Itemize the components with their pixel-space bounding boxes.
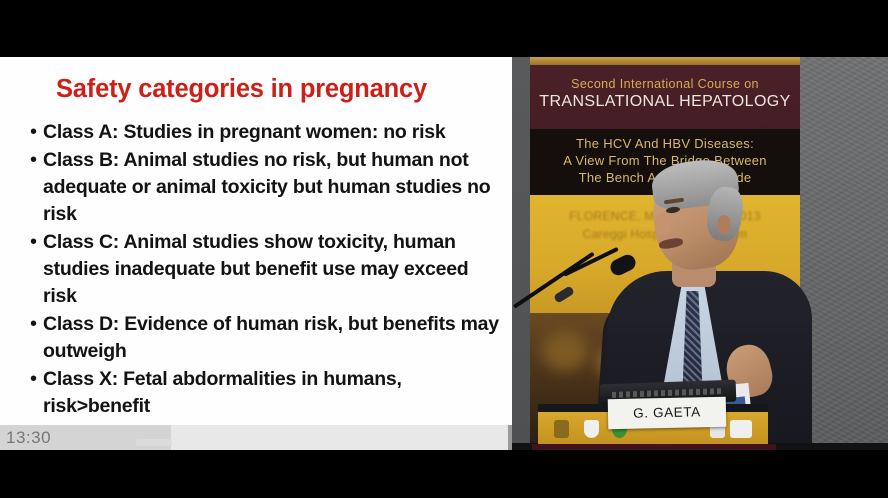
slide-title: Safety categories in pregnancy <box>56 75 476 103</box>
bullet-icon: • <box>24 311 43 338</box>
sponsor-logo-5 <box>730 420 752 438</box>
video-player-screen: Safety categories in pregnancy • Class A… <box>0 0 888 498</box>
slide-bullet-list: • Class A: Studies in pregnant women: no… <box>24 119 502 421</box>
list-item: • Class A: Studies in pregnant women: no… <box>24 119 502 146</box>
progress-handle[interactable] <box>136 439 172 446</box>
list-item: • Class X: Fetal abdormalities in humans… <box>24 366 502 420</box>
speaker-video-panel[interactable]: Second International Course on TRANSLATI… <box>512 57 888 450</box>
list-item: • Class C: Animal studies show toxicity,… <box>24 229 502 310</box>
bullet-text: Class D: Evidence of human risk, but ben… <box>43 311 502 365</box>
speaker-nameplate: G. GAETA <box>608 397 727 429</box>
current-time-label: 13:30 <box>6 428 51 448</box>
banner-subtitle-1: The HCV And HBV Diseases: <box>530 136 800 151</box>
bullet-icon: • <box>24 366 43 393</box>
list-item: • Class B: Animal studies no risk, but h… <box>24 147 502 228</box>
speaker-nose <box>655 213 671 235</box>
bullet-icon: • <box>24 119 43 146</box>
banner-header-block: Second International Course on TRANSLATI… <box>530 65 800 129</box>
bullet-icon: • <box>24 229 43 256</box>
list-item: • Class D: Evidence of human risk, but b… <box>24 311 502 365</box>
letterbox-bottom <box>0 450 888 498</box>
speaker-ear <box>717 215 731 235</box>
letterbox-top <box>0 0 888 57</box>
banner-line-2: TRANSLATIONAL HEPATOLOGY <box>530 93 800 111</box>
banner-gold-rail <box>530 57 800 65</box>
banner-subtitle-2: A View From The Bridge Between <box>530 153 800 168</box>
sponsor-logo-1 <box>554 420 569 438</box>
bullet-icon: • <box>24 147 43 174</box>
speaker-nameplate-text: G. GAETA <box>608 397 727 429</box>
bullet-text: Class A: Studies in pregnant women: no r… <box>43 119 502 146</box>
sponsor-logo-2 <box>584 420 599 438</box>
bullet-text: Class B: Animal studies no risk, but hum… <box>43 147 502 228</box>
bullet-text: Class C: Animal studies show toxicity, h… <box>43 229 502 310</box>
playback-progress-bar[interactable]: 13:30 <box>0 425 512 450</box>
slide-panel: Safety categories in pregnancy • Class A… <box>0 57 512 425</box>
banner-line-1: Second International Course on <box>530 77 800 91</box>
bullet-text: Class X: Fetal abdormalities in humans, … <box>43 366 502 420</box>
wall-left-strip <box>512 57 530 450</box>
